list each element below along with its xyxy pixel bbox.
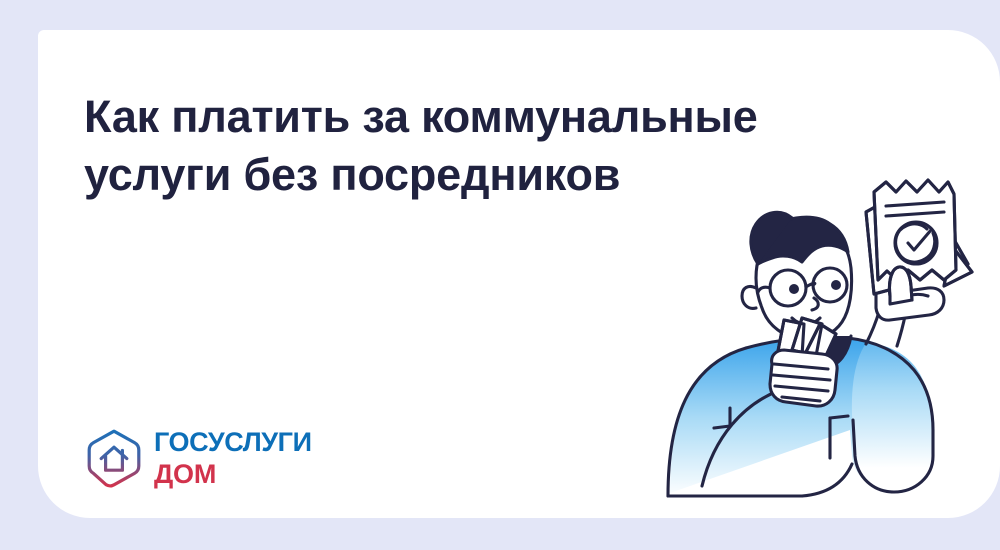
poster-canvas: Как платить за коммунальные услуги без п… [0,0,1000,550]
brand-word-gosuslugi: ГОСУСЛУГИ [154,429,312,456]
brand-wordmark: ГОСУСЛУГИ ДОМ [154,429,312,488]
illustration-man-holding-cash-and-receipt [652,168,992,518]
brand-word-dom: ДОМ [154,461,312,488]
content-card: Как платить за коммунальные услуги без п… [38,30,1000,518]
brand-logo[interactable]: ГОСУСЛУГИ ДОМ [86,428,312,488]
house-in-hexagon-icon [86,428,142,488]
